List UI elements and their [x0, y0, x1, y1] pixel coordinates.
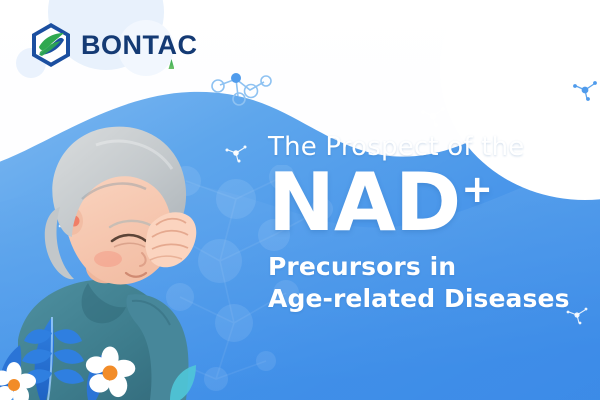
headline-block: The Prospect of the NAD+ Precursors in A…: [268, 133, 588, 316]
molecule-icon: [420, 104, 446, 128]
brand-name: BONTAC: [81, 32, 197, 59]
nad-promo-banner: BONTAC The Prospect of the NAD+ Precurso…: [0, 0, 600, 400]
elderly-woman-illustration: [0, 95, 260, 400]
headline-nad-main: NAD: [268, 156, 460, 249]
headline-nad: NAD+: [268, 164, 588, 242]
brand-logo[interactable]: BONTAC: [30, 22, 197, 68]
bontac-hexagon-logo-icon: [30, 22, 72, 68]
logo-green-accent-icon: [168, 59, 174, 69]
molecule-icon: [572, 78, 598, 102]
headline-line-4: Age-related Diseases: [268, 283, 588, 316]
headline-line-3: Precursors in: [268, 251, 588, 284]
headline-nad-superscript: +: [461, 167, 492, 211]
